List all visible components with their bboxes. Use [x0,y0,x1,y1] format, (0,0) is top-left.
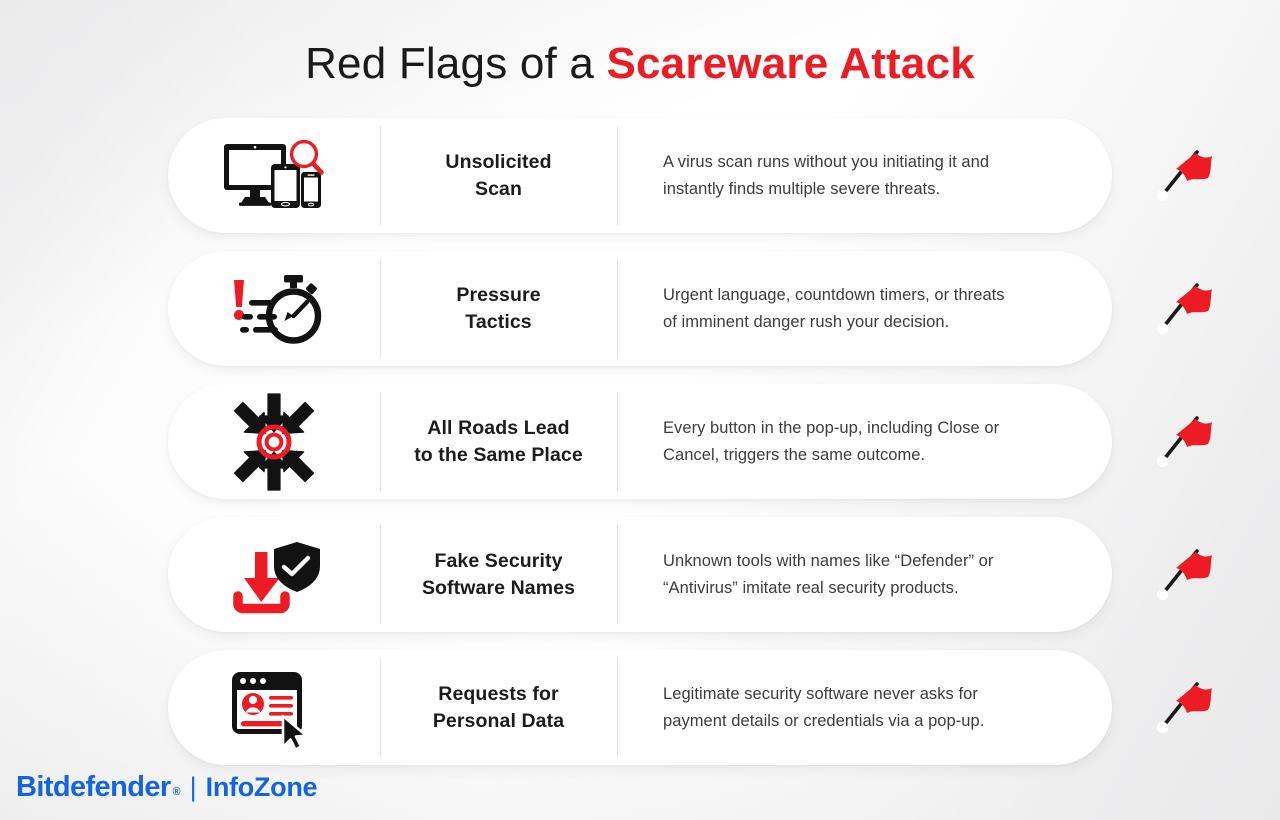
row-description: Urgent language, countdown timers, or th… [663,282,1005,336]
card[interactable]: All Roads Lead to the Same Place Every b… [168,384,1112,499]
row-title-line1: All Roads Lead [427,417,569,439]
card[interactable]: Fake Security Software Names Unknown too… [168,517,1112,632]
card[interactable]: Unsolicited Scan A virus scan runs witho… [168,118,1112,233]
description-cell: A virus scan runs without you initiating… [617,118,1112,233]
bitdefender-wordmark: Bitdefender [16,771,171,804]
row-title-line1: Unsolicited [445,151,551,173]
icon-cell [168,118,380,233]
row-desc-line2: of imminent danger rush your decision. [663,313,949,331]
row-title: Fake Security Software Names [422,548,575,602]
icon-cell [168,384,380,499]
registered-mark-icon: ® [173,786,181,798]
row-description: Legitimate security software never asks … [663,681,984,735]
row-title-line2: Personal Data [433,710,564,732]
row-desc-line2: “Antivirus” imitate real security produc… [663,579,959,597]
title-cell: Unsolicited Scan [380,118,617,233]
icon-cell [168,650,380,765]
red-flag-icon [1154,546,1216,604]
description-cell: Urgent language, countdown timers, or th… [617,251,1112,366]
row-fake-security-software-names: Fake Security Software Names Unknown too… [0,517,1280,632]
row-all-roads-lead-same-place: All Roads Lead to the Same Place Every b… [0,384,1280,499]
row-desc-line1: Unknown tools with names like “Defender”… [663,552,993,570]
title-cell: Pressure Tactics [380,251,617,366]
description-cell: Every button in the pop-up, including Cl… [617,384,1112,499]
description-cell: Unknown tools with names like “Defender”… [617,517,1112,632]
row-title-line1: Pressure [456,284,540,306]
row-desc-line1: Urgent language, countdown timers, or th… [663,286,1005,304]
title-cell: All Roads Lead to the Same Place [380,384,617,499]
row-unsolicited-scan: Unsolicited Scan A virus scan runs witho… [0,118,1280,233]
row-title: Requests for Personal Data [433,681,564,735]
infographic-stage: Red Flags of a Scareware Attack [0,0,1280,820]
card[interactable]: Pressure Tactics Urgent language, countd… [168,251,1112,366]
stopwatch-urgency-icon [222,272,326,346]
page-title-light: Red Flags of a [305,39,606,88]
devices-scan-icon [222,138,326,214]
row-title-line2: to the Same Place [414,444,583,466]
row-description: Unknown tools with names like “Defender”… [663,548,993,602]
row-title-line2: Tactics [465,311,531,333]
red-flag-icon [1154,679,1216,737]
download-shield-icon [226,534,322,616]
red-flag-icon [1154,413,1216,471]
row-title-line2: Scan [475,178,522,200]
page-title: Red Flags of a Scareware Attack [0,36,1280,92]
red-flag-icon [1154,280,1216,338]
red-flag-icon [1154,147,1216,205]
arrows-converging-target-icon [226,392,322,492]
red-flag-rows: Unsolicited Scan A virus scan runs witho… [0,118,1280,783]
row-title: Unsolicited Scan [445,149,551,203]
row-pressure-tactics: Pressure Tactics Urgent language, countd… [0,251,1280,366]
row-title-line2: Software Names [422,577,575,599]
row-title: Pressure Tactics [456,282,540,336]
infozone-wordmark: InfoZone [206,772,318,803]
page-title-bold: Scareware Attack [606,39,974,88]
logo-separator: | [190,772,197,803]
row-title: All Roads Lead to the Same Place [414,415,583,469]
title-cell: Requests for Personal Data [380,650,617,765]
row-desc-line2: payment details or credentials via a pop… [663,712,984,730]
row-description: A virus scan runs without you initiating… [663,149,989,203]
row-title-line1: Fake Security [434,550,562,572]
footer-logo[interactable]: Bitdefender ® | InfoZone [16,771,317,804]
row-requests-for-personal-data: Requests for Personal Data Legitimate se… [0,650,1280,765]
row-desc-line2: Cancel, triggers the same outcome. [663,446,925,464]
row-desc-line1: Legitimate security software never asks … [663,685,978,703]
row-desc-line1: Every button in the pop-up, including Cl… [663,419,999,437]
card[interactable]: Requests for Personal Data Legitimate se… [168,650,1112,765]
title-cell: Fake Security Software Names [380,517,617,632]
browser-personal-data-cursor-icon [228,666,320,750]
description-cell: Legitimate security software never asks … [617,650,1112,765]
icon-cell [168,251,380,366]
icon-cell [168,517,380,632]
row-title-line1: Requests for [438,683,558,705]
row-description: Every button in the pop-up, including Cl… [663,415,999,469]
row-desc-line1: A virus scan runs without you initiating… [663,153,989,171]
row-desc-line2: instantly finds multiple severe threats. [663,180,940,198]
